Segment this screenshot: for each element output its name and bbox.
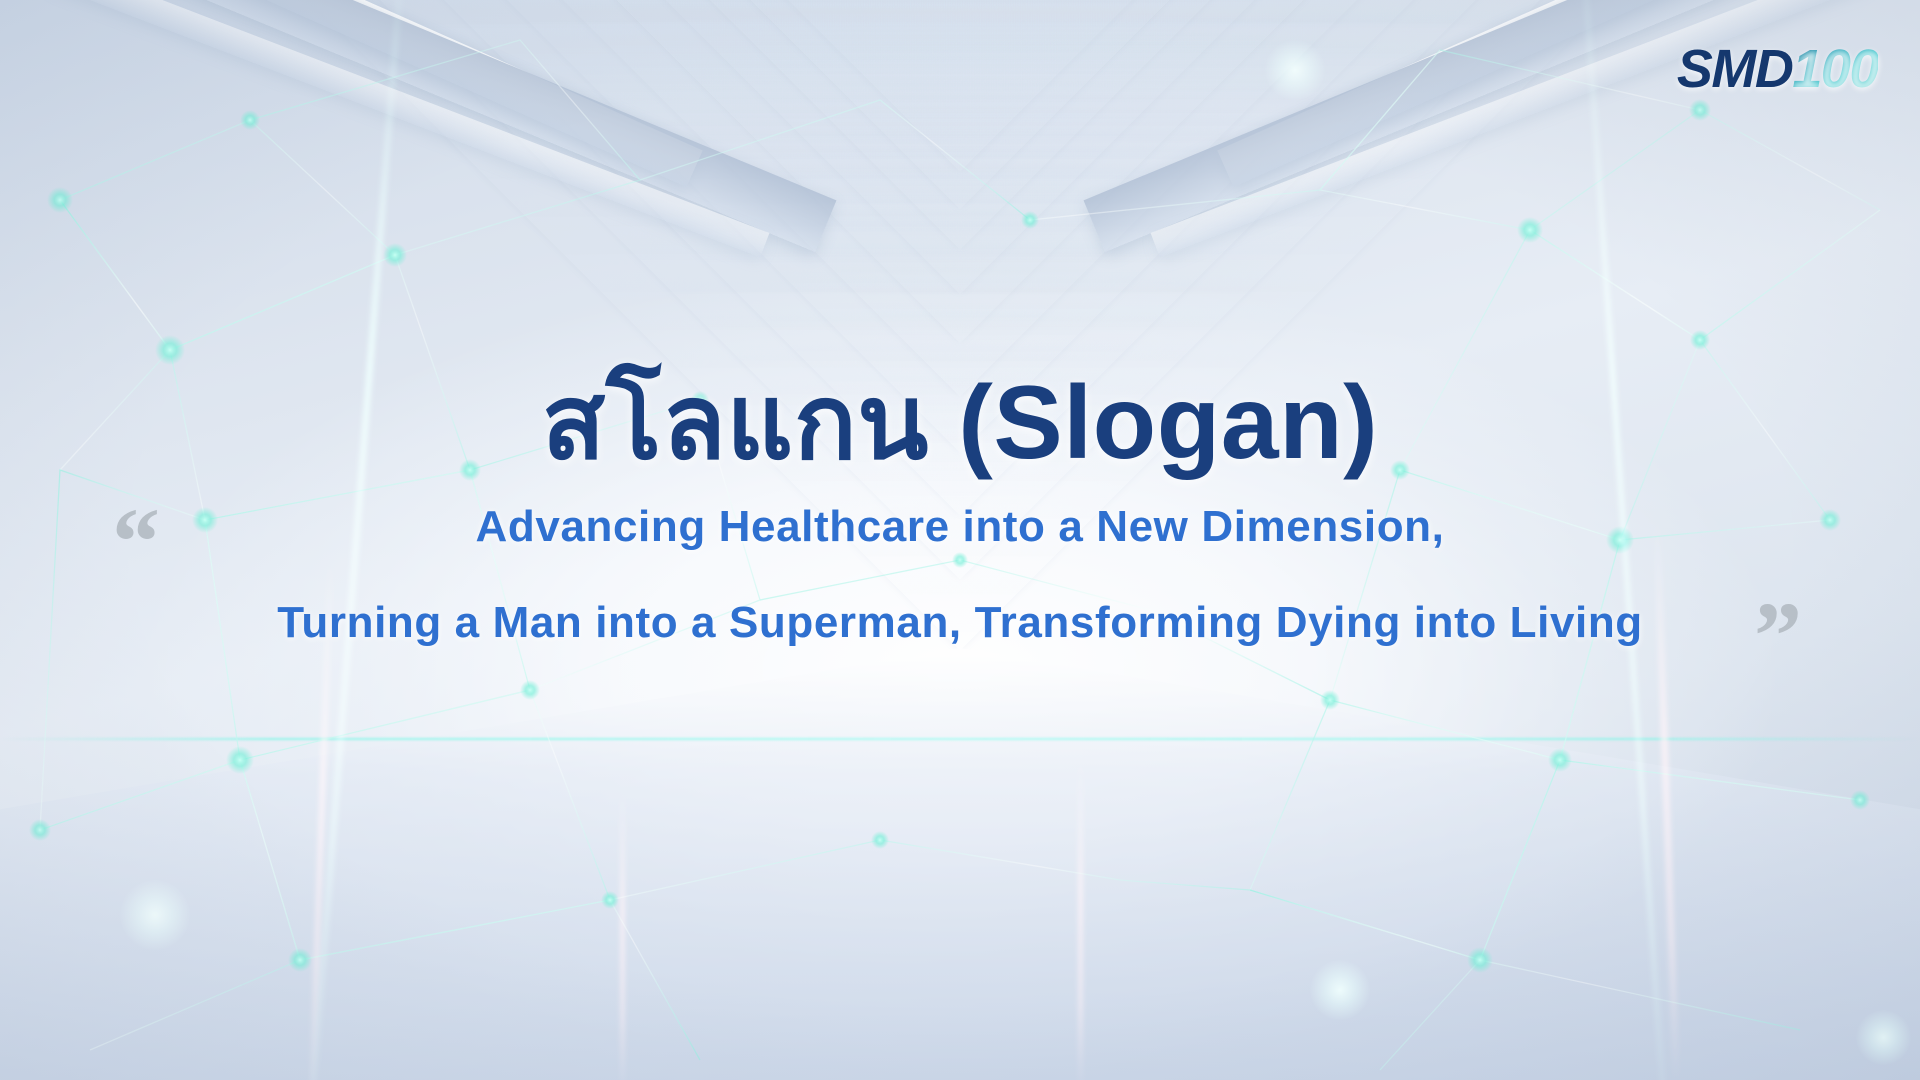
slide-canvas: SMD100 สโลแกน (Slogan) “ Advancing Healt… (0, 0, 1920, 1080)
smd100-logo: SMD100 (1677, 42, 1878, 96)
quote-close-icon: ” (1754, 588, 1802, 684)
logo-number-text: 100 (1792, 39, 1878, 99)
slogan-line-1: Advancing Healthcare into a New Dimensio… (476, 502, 1445, 552)
slogan-line-2: Turning a Man into a Superman, Transform… (277, 598, 1643, 648)
slide-content: สโลแกน (Slogan) “ Advancing Healthcare i… (0, 0, 1920, 1080)
logo-brand-text: SMD (1677, 39, 1793, 99)
slogan-quote-block: “ Advancing Healthcare into a New Dimens… (110, 502, 1810, 648)
quote-open-icon: “ (112, 494, 160, 590)
page-title: สโลแกน (Slogan) (542, 368, 1379, 478)
